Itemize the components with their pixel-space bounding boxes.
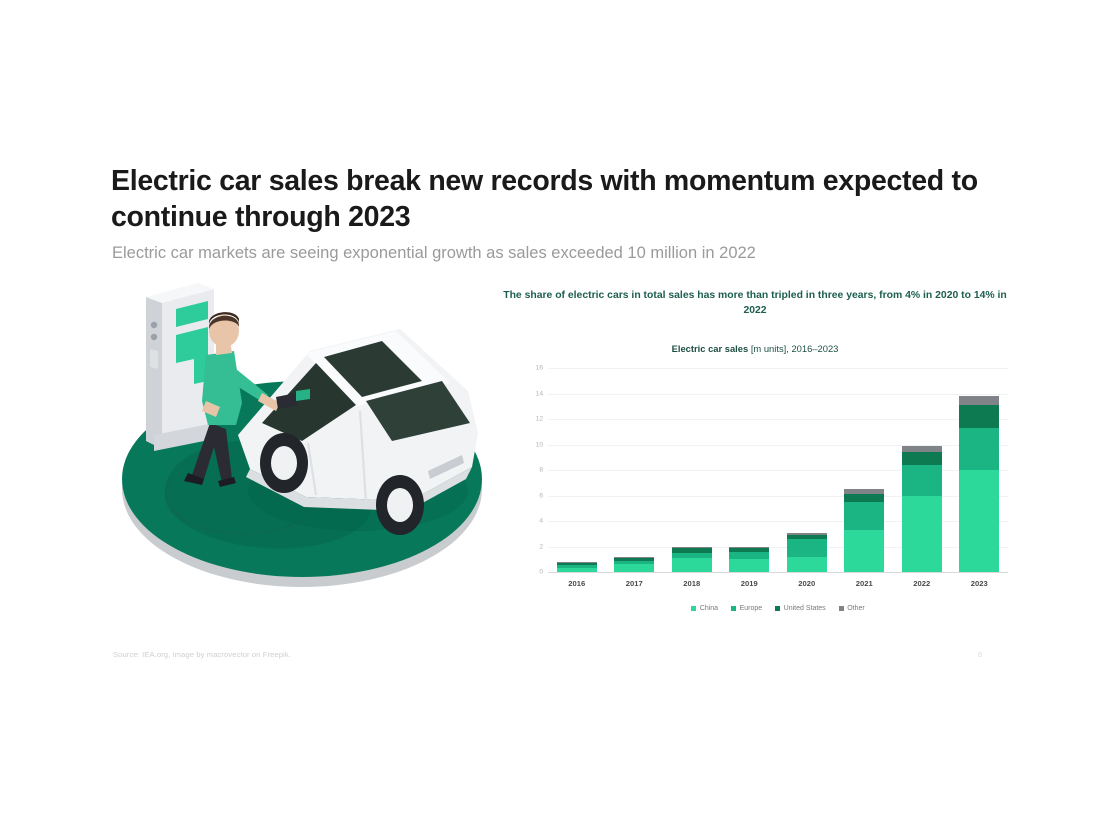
legend-item[interactable]: Other xyxy=(839,605,865,612)
chart-title-bold: Electric car sales xyxy=(672,343,749,354)
legend-item[interactable]: United States xyxy=(775,605,826,612)
bar-segment[interactable] xyxy=(902,496,942,573)
x-axis-tick: 2023 xyxy=(959,573,999,589)
chart-bars xyxy=(548,368,1008,572)
bar-segment[interactable] xyxy=(844,494,884,502)
chart-kicker: The share of electric cars in total sale… xyxy=(500,288,1010,318)
x-axis-tick: 2021 xyxy=(844,573,884,589)
y-axis-labels: 0246810121416 xyxy=(520,368,546,572)
bar-segment[interactable] xyxy=(902,465,942,496)
y-axis-tick: 14 xyxy=(536,390,543,397)
x-axis-tick: 2016 xyxy=(557,573,597,589)
legend-item[interactable]: Europe xyxy=(731,605,762,612)
bar-stack[interactable] xyxy=(614,368,654,572)
source-note: Source: IEA.org, Image by macrovector on… xyxy=(113,650,291,659)
bar-segment[interactable] xyxy=(672,558,712,572)
bar-segment[interactable] xyxy=(557,568,597,572)
y-axis-tick: 0 xyxy=(539,569,543,576)
page-subtitle: Electric car markets are seeing exponent… xyxy=(112,243,992,264)
bar-segment[interactable] xyxy=(787,557,827,572)
page-title: Electric car sales break new records wit… xyxy=(111,163,991,236)
bar-stack[interactable] xyxy=(557,368,597,572)
x-axis-tick: 2017 xyxy=(614,573,654,589)
bar-segment[interactable] xyxy=(844,530,884,572)
bar-stack[interactable] xyxy=(787,368,827,572)
bar-segment[interactable] xyxy=(959,470,999,572)
chart-plot-area: 0246810121416 20162017201820192020202120… xyxy=(520,368,1008,598)
chart-title-units: [m units], 2016–2023 xyxy=(751,343,839,354)
y-axis-tick: 10 xyxy=(536,441,543,448)
legend-swatch-icon xyxy=(691,606,696,611)
legend-swatch-icon xyxy=(775,606,780,611)
chart-title: Electric car sales [m units], 2016–2023 xyxy=(500,343,1010,354)
x-axis-tick: 2022 xyxy=(902,573,942,589)
bar-stack[interactable] xyxy=(672,368,712,572)
bar-stack[interactable] xyxy=(844,368,884,572)
bar-segment[interactable] xyxy=(844,502,884,530)
x-axis-tick: 2019 xyxy=(729,573,769,589)
bar-segment[interactable] xyxy=(959,396,999,405)
bar-segment[interactable] xyxy=(959,405,999,428)
chart-legend: ChinaEuropeUnited StatesOther xyxy=(548,600,1008,616)
bar-segment[interactable] xyxy=(729,552,769,559)
legend-swatch-icon xyxy=(731,606,736,611)
y-axis-tick: 16 xyxy=(536,365,543,372)
slide-canvas: Electric car sales break new records wit… xyxy=(0,0,1100,825)
x-axis-tick: 2020 xyxy=(787,573,827,589)
legend-item[interactable]: China xyxy=(691,605,718,612)
bar-stack[interactable] xyxy=(902,368,942,572)
bar-segment[interactable] xyxy=(787,539,827,557)
legend-label: China xyxy=(700,605,718,612)
legend-label: Europe xyxy=(740,605,763,612)
bar-stack[interactable] xyxy=(729,368,769,572)
legend-swatch-icon xyxy=(839,606,844,611)
chart-panel: The share of electric cars in total sale… xyxy=(500,283,1010,643)
bar-segment[interactable] xyxy=(959,428,999,470)
bar-segment[interactable] xyxy=(614,564,654,572)
y-axis-tick: 4 xyxy=(539,518,543,525)
y-axis-tick: 2 xyxy=(539,543,543,550)
y-axis-tick: 12 xyxy=(536,416,543,423)
x-axis-labels: 20162017201820192020202120222023 xyxy=(548,573,1008,589)
legend-label: Other xyxy=(847,605,865,612)
page-number: 6 xyxy=(978,650,982,659)
ev-charging-illustration xyxy=(110,283,495,618)
bar-segment[interactable] xyxy=(729,559,769,572)
bar-stack[interactable] xyxy=(959,368,999,572)
x-axis-tick: 2018 xyxy=(672,573,712,589)
y-axis-tick: 6 xyxy=(539,492,543,499)
y-axis-tick: 8 xyxy=(539,467,543,474)
legend-label: United States xyxy=(784,605,826,612)
bar-segment[interactable] xyxy=(902,452,942,465)
